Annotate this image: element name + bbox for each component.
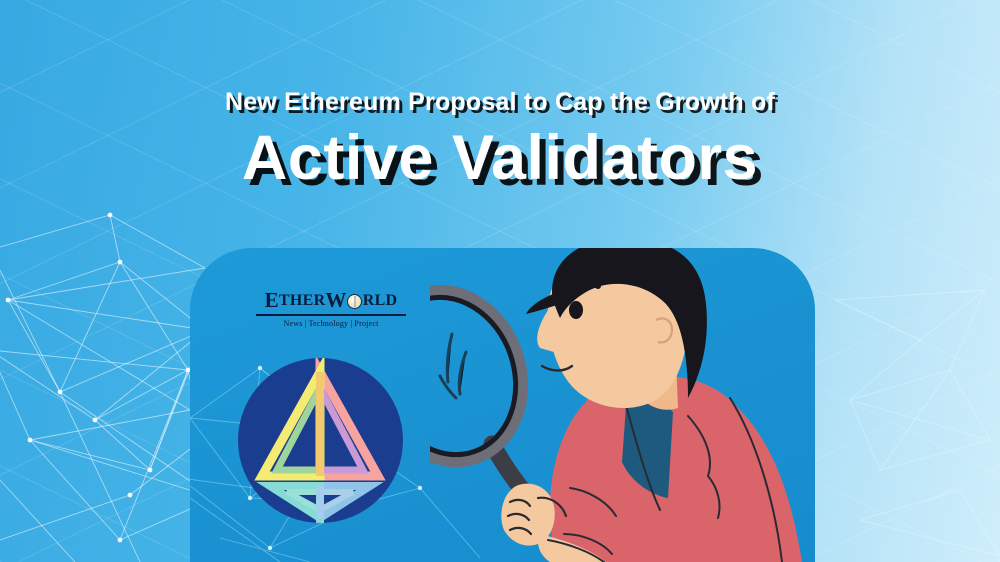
banner-title: Active Validators: [0, 126, 1000, 190]
logo-divider: [256, 314, 406, 316]
person-inspecting-illustration: [430, 248, 860, 562]
logo-text-part2: THER: [279, 293, 326, 309]
globe-icon: [347, 294, 362, 309]
banner: ETHERWRLD News | Technology | Project: [0, 0, 1000, 562]
headline-block: New Ethereum Proposal to Cap the Growth …: [0, 0, 1000, 190]
etherworld-logo: ETHERWRLD News | Technology | Project: [256, 290, 406, 328]
banner-subtitle: New Ethereum Proposal to Cap the Growth …: [0, 88, 1000, 117]
logo-text-part3: W: [325, 290, 346, 311]
logo-text-part1: E: [265, 290, 279, 311]
logo-tagline: News | Technology | Project: [256, 319, 406, 328]
logo-wordmark: ETHERWRLD: [256, 290, 406, 311]
logo-text-part4: RLD: [363, 293, 398, 309]
ethereum-diamond-icon: [238, 358, 403, 523]
